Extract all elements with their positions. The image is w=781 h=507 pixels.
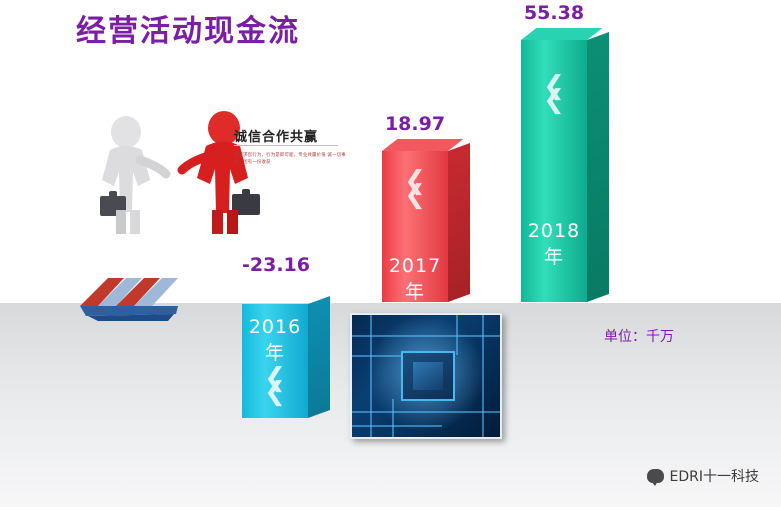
- slide-canvas: 经营活动现金流 诚信合作共赢 合最求您行为，行为是即可能，专业共赢价值 诚一切事…: [0, 0, 781, 507]
- feather-decoration-icon: [78, 276, 182, 322]
- chevrons-up-icon: ❮❮: [382, 173, 448, 201]
- unit-note: 单位：千万: [604, 326, 674, 346]
- chevrons-up-icon: ❮❮: [521, 78, 587, 106]
- grey-person-icon: [96, 114, 182, 234]
- bar-2017: ❮❮ 2017年: [382, 151, 448, 302]
- circuit-board-image: [350, 313, 502, 439]
- handshake-illustration: 诚信合作共赢 合最求您行为，行为是即可能，专业共赢价值 诚一切事轮，团有一份收获: [86, 104, 336, 234]
- bar-2018: ❮❮ 2018年: [521, 40, 587, 302]
- bar-2016: 2016年 ❮❮: [242, 304, 308, 418]
- wechat-icon: [647, 469, 664, 483]
- illustration-divider: [234, 145, 338, 146]
- bar-label-2016: 2016年: [242, 316, 308, 365]
- value-label-2018: 55.38: [521, 2, 587, 24]
- illustration-headline: 诚信合作共赢: [234, 126, 344, 145]
- illustration-subtext: 合最求您行为，行为是即可能，专业共赢价值 诚一切事轮，团有一份收获: [234, 152, 352, 166]
- chevrons-down-icon: ❮❮: [242, 370, 308, 398]
- page-title: 经营活动现金流: [76, 6, 300, 50]
- value-label-2016: -23.16: [242, 254, 308, 276]
- bar-label-2017: 2017年: [382, 255, 448, 304]
- bar-label-2018: 2018年: [521, 220, 587, 269]
- footer-account: EDRI十一科技: [647, 466, 759, 486]
- value-label-2017: 18.97: [382, 113, 448, 135]
- footer-account-name: EDRI十一科技: [670, 466, 759, 486]
- chip-core: [401, 351, 455, 401]
